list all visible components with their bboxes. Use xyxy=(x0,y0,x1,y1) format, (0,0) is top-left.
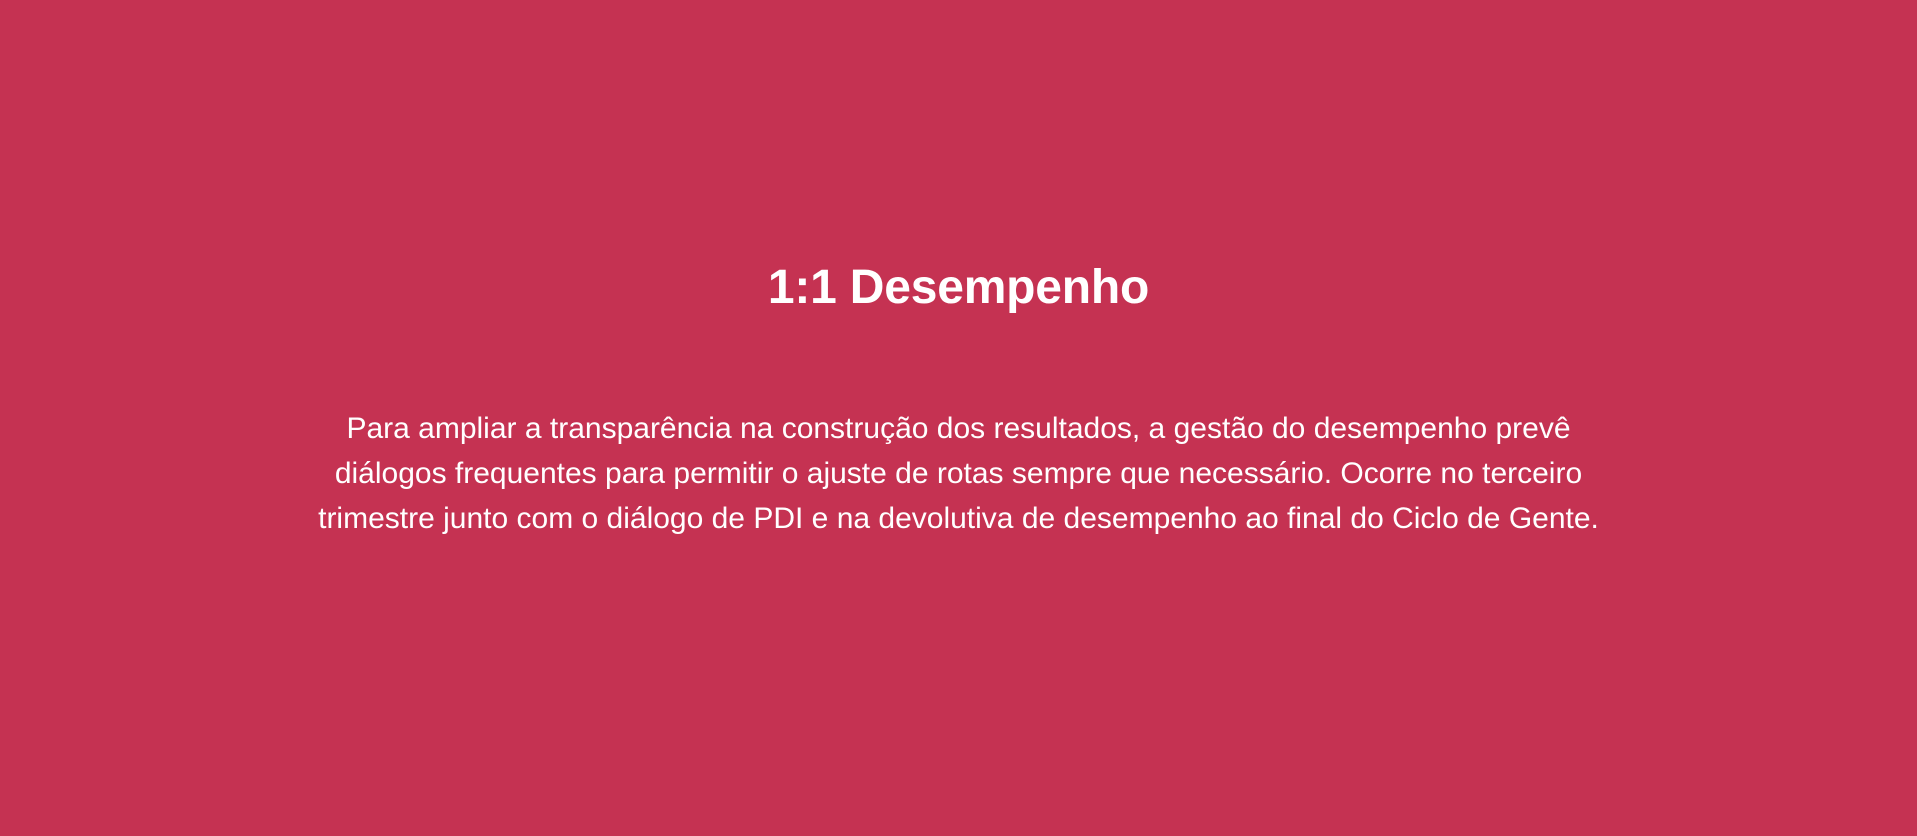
page-title: 1:1 Desempenho xyxy=(0,259,1917,317)
slide-description: Para ampliar a transparência na construç… xyxy=(303,406,1615,541)
slide-container: 1:1 Desempenho Para ampliar a transparên… xyxy=(0,0,1917,836)
